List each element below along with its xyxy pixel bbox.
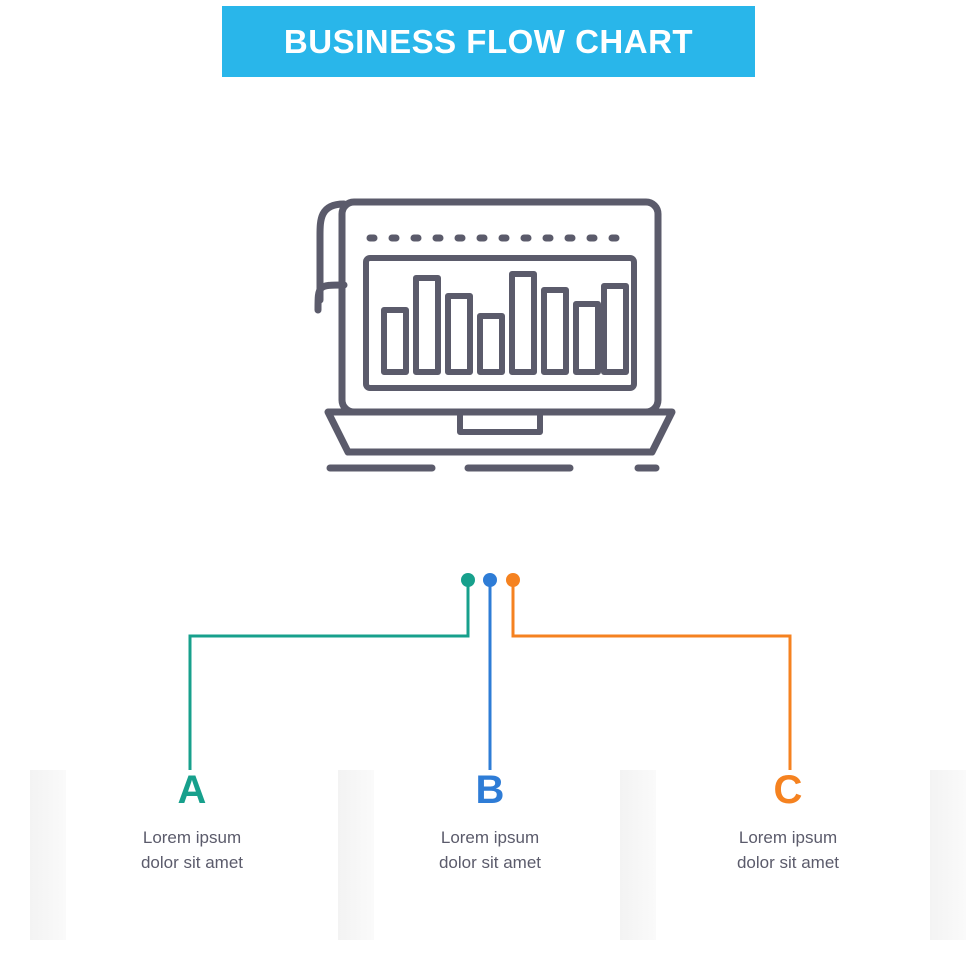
connector-dot-c [506, 573, 520, 587]
step-description-c-line1: Lorem ipsum [638, 826, 938, 851]
flow-step-a: A Lorem ipsum dolor sit amet [42, 770, 342, 875]
step-letter-c: C [638, 770, 938, 810]
laptop-bar-chart-icon [300, 180, 680, 480]
laptop-chart-bars [384, 274, 626, 372]
step-letter-a: A [42, 770, 342, 810]
step-description-a: Lorem ipsum dolor sit amet [42, 826, 342, 875]
step-description-b-line1: Lorem ipsum [340, 826, 640, 851]
flow-step-c: C Lorem ipsum dolor sit amet [638, 770, 938, 875]
connector-line-a [190, 580, 468, 770]
step-description-b: Lorem ipsum dolor sit amet [340, 826, 640, 875]
infographic-page: BUSINESS FLOW CHART [0, 0, 980, 980]
connector-line-c [513, 580, 790, 770]
step-description-a-line1: Lorem ipsum [42, 826, 342, 851]
connector-dot-b [483, 573, 497, 587]
step-description-c-line2: dolor sit amet [638, 851, 938, 876]
laptop-bar-chart-svg [300, 180, 680, 480]
flow-connectors [0, 540, 980, 800]
laptop-trackpad [460, 412, 540, 432]
step-letter-b: B [340, 770, 640, 810]
connector-dot-a [461, 573, 475, 587]
step-description-c: Lorem ipsum dolor sit amet [638, 826, 938, 875]
page-title: BUSINESS FLOW CHART [284, 23, 693, 61]
flow-connectors-svg [0, 540, 980, 800]
title-banner: BUSINESS FLOW CHART [222, 6, 755, 77]
flow-step-b: B Lorem ipsum dolor sit amet [340, 770, 640, 875]
step-description-a-line2: dolor sit amet [42, 851, 342, 876]
step-description-b-line2: dolor sit amet [340, 851, 640, 876]
